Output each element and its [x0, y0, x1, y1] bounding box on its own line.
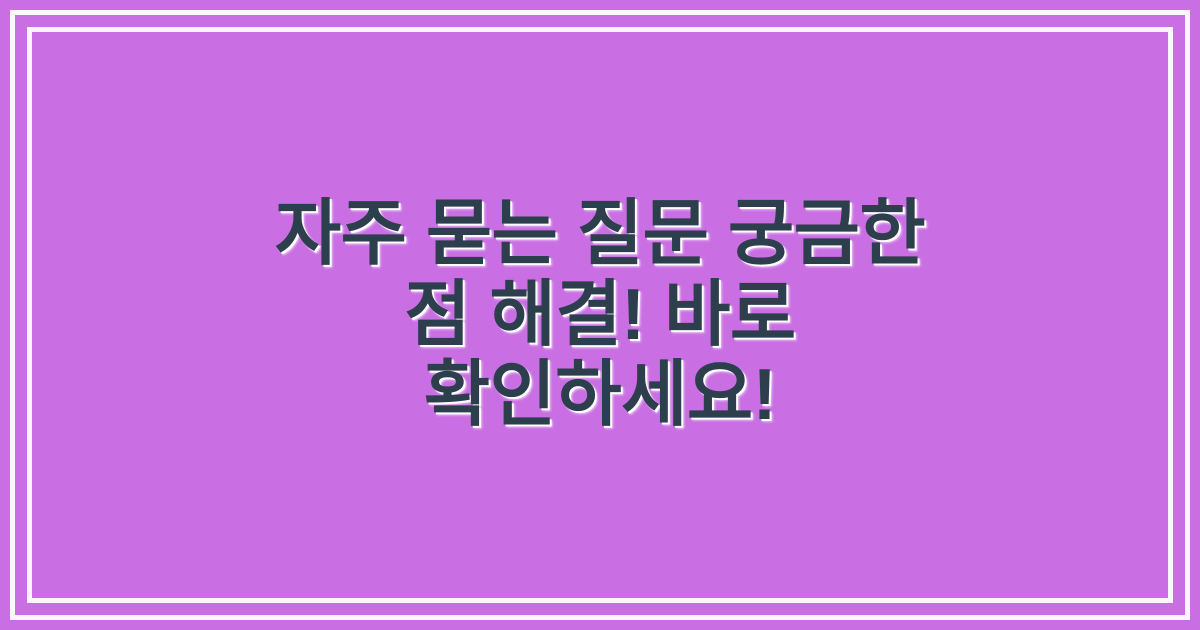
thumbnail-card: 자주 묻는 질문 궁금한 점 해결! 바로 확인하세요!: [0, 0, 1200, 630]
title-content-area: 자주 묻는 질문 궁금한 점 해결! 바로 확인하세요!: [0, 0, 1200, 630]
title-line-2: 점 해결! 바로: [404, 275, 795, 355]
title-line-1: 자주 묻는 질문 궁금한: [275, 194, 925, 274]
page-title: 자주 묻는 질문 궁금한 점 해결! 바로 확인하세요!: [110, 194, 1090, 436]
title-line-3: 확인하세요!: [424, 355, 776, 435]
